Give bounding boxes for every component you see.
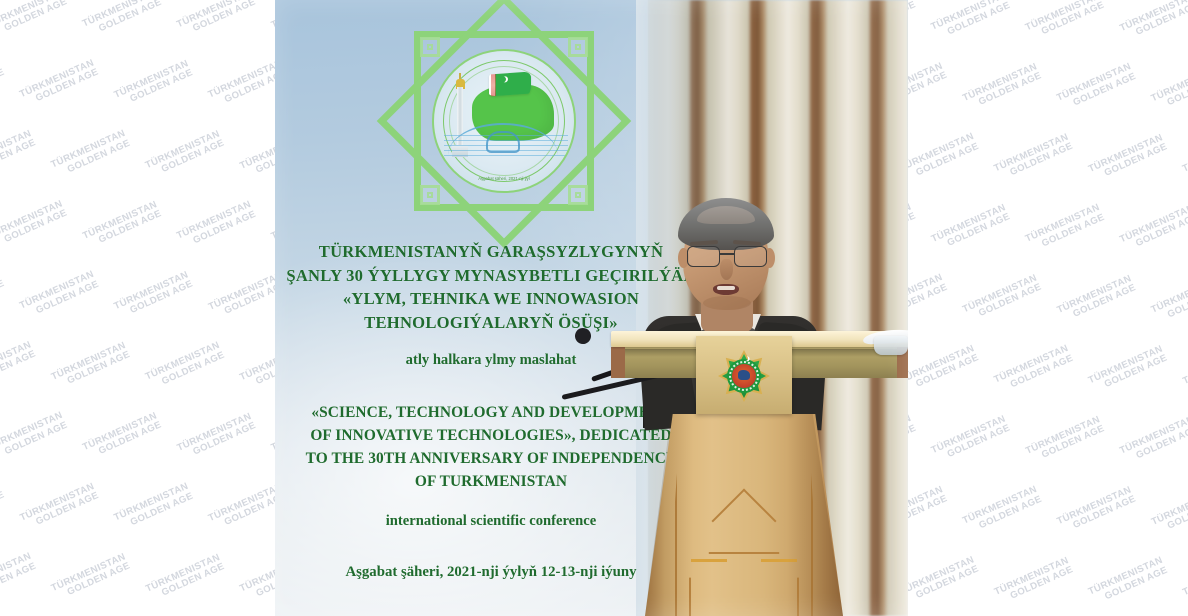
news-photo: Aşgabat şäheri, 2021-nji ýyl TÜRKMENISTA…	[275, 0, 908, 616]
water-glass	[874, 336, 908, 355]
podium-desk-edge-left	[611, 347, 625, 378]
turkmenistan-state-emblem-icon	[718, 350, 770, 402]
podium	[275, 0, 908, 616]
podium-shadow-right	[787, 414, 843, 616]
podium-shadow-left	[645, 414, 693, 616]
